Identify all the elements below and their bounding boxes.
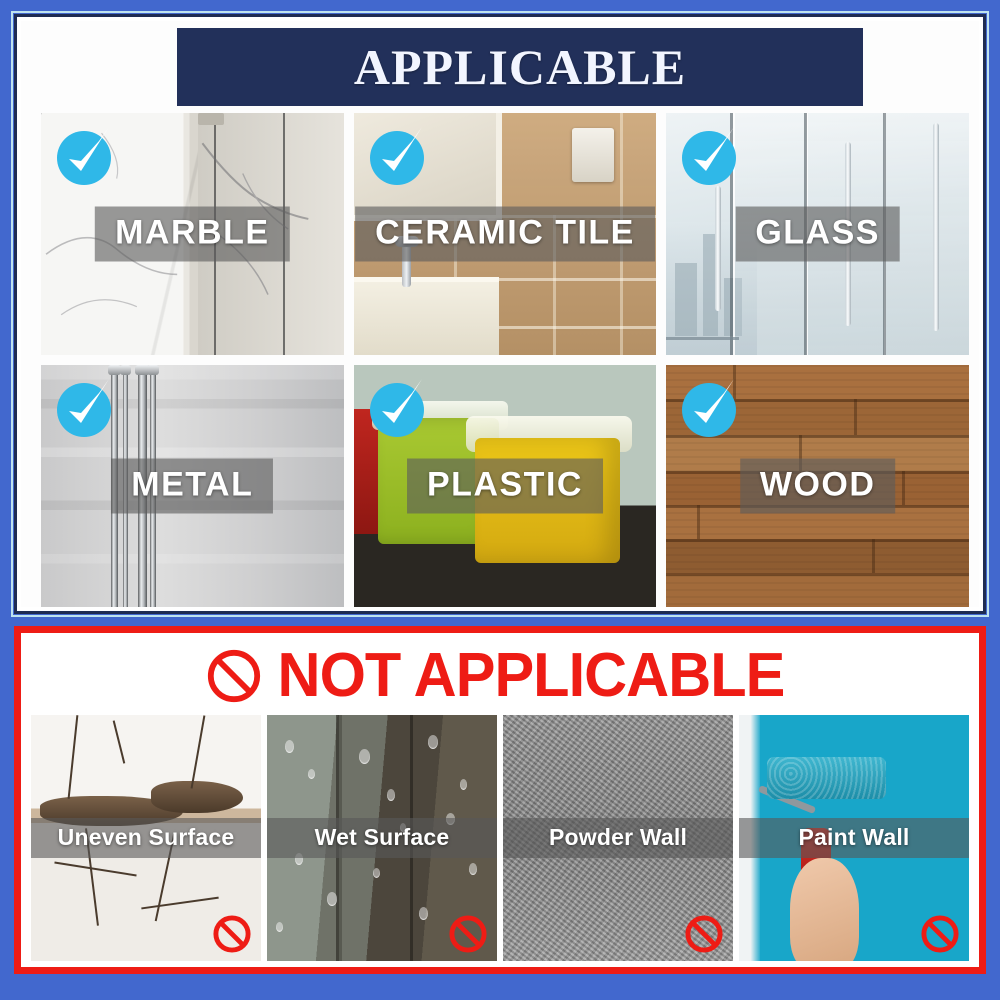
not-applicable-item-label: Uneven Surface <box>58 824 235 850</box>
applicable-item-label-bar: MARBLE <box>95 207 289 262</box>
check-circle-icon <box>57 377 115 435</box>
applicable-item-wood[interactable]: WOOD <box>666 365 969 607</box>
applicable-item-ceramic-tile[interactable]: CERAMIC TILE <box>354 113 657 355</box>
not-applicable-item-label: Powder Wall <box>549 824 687 850</box>
applicable-item-label: PLASTIC <box>427 466 583 504</box>
check-circle-icon <box>57 125 115 183</box>
applicable-item-metal[interactable]: METAL <box>41 365 344 607</box>
not-applicable-item-uneven-surface[interactable]: Uneven Surface <box>31 715 261 961</box>
not-applicable-item-label-bar: Wet Surface <box>267 818 497 858</box>
prohibition-icon <box>683 913 725 955</box>
not-applicable-title: NOT APPLICABLE <box>278 645 785 707</box>
not-applicable-item-label: Wet Surface <box>315 824 450 850</box>
check-circle-icon <box>370 377 428 435</box>
not-applicable-section: NOT APPLICABLE Uneven Surface <box>14 626 986 974</box>
applicable-item-label: MARBLE <box>115 214 269 252</box>
applicable-item-label: METAL <box>131 466 253 504</box>
applicable-section-inner: APPLICABLE <box>21 21 979 607</box>
applicable-banner: APPLICABLE <box>177 28 863 106</box>
not-applicable-grid: Uneven Surface <box>31 715 969 961</box>
applicable-item-label: GLASS <box>755 214 880 252</box>
prohibition-icon <box>211 913 253 955</box>
check-circle-icon <box>370 125 428 183</box>
not-applicable-item-label-bar: Uneven Surface <box>31 818 261 858</box>
prohibition-icon <box>447 913 489 955</box>
applicable-title: APPLICABLE <box>354 38 686 96</box>
applicable-item-label-bar: CERAMIC TILE <box>355 207 655 262</box>
prohibition-icon <box>919 913 961 955</box>
prohibition-icon <box>205 647 263 705</box>
not-applicable-item-wet-surface[interactable]: Wet Surface <box>267 715 497 961</box>
applicable-item-label: WOOD <box>760 466 876 504</box>
not-applicable-item-label-bar: Paint Wall <box>739 818 969 858</box>
applicable-item-label-bar: METAL <box>111 459 273 514</box>
not-applicable-header: NOT APPLICABLE <box>21 639 979 713</box>
applicable-item-label-bar: PLASTIC <box>407 459 603 514</box>
applicable-item-label-bar: WOOD <box>740 459 896 514</box>
applicable-item-label: CERAMIC TILE <box>375 214 635 252</box>
applicable-section: APPLICABLE <box>14 14 986 614</box>
not-applicable-item-label-bar: Powder Wall <box>503 818 733 858</box>
product-infographic-poster: APPLICABLE <box>0 0 1000 1000</box>
check-circle-icon <box>682 125 740 183</box>
applicable-item-glass[interactable]: GLASS <box>666 113 969 355</box>
applicable-item-marble[interactable]: MARBLE <box>41 113 344 355</box>
check-circle-icon <box>682 377 740 435</box>
not-applicable-item-paint-wall[interactable]: Paint Wall <box>739 715 969 961</box>
not-applicable-item-powder-wall[interactable]: Powder Wall <box>503 715 733 961</box>
applicable-item-label-bar: GLASS <box>735 207 900 262</box>
not-applicable-item-label: Paint Wall <box>798 824 909 850</box>
applicable-grid: MARBLE <box>41 113 969 607</box>
applicable-item-plastic[interactable]: PLASTIC <box>354 365 657 607</box>
